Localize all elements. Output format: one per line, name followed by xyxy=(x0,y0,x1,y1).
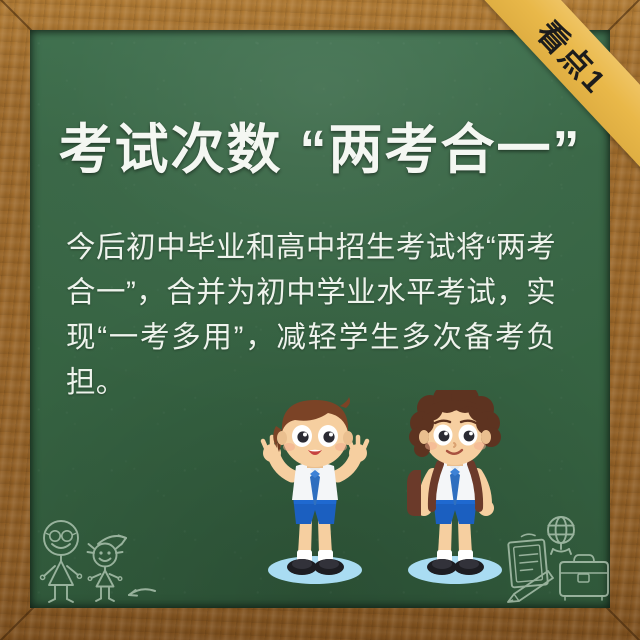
student-figure-backpack-boy xyxy=(392,390,518,593)
body-paragraph: 今后初中毕业和高中招生考试将“两考合一”，合并为初中学业水平考试，实现“一考多用… xyxy=(66,225,556,405)
student-figure-cheering-boy xyxy=(252,392,378,593)
briefcase-icon xyxy=(560,555,608,600)
chalk-drawing-teacher-and-child xyxy=(24,508,159,608)
chalkboard-poster: 考试次数 “两考合一” 今后初中毕业和高中招生考试将“两考合一”，合并为初中学业… xyxy=(0,0,640,640)
page-title: 考试次数 “两考合一” xyxy=(0,120,640,180)
globe-icon xyxy=(548,517,574,554)
